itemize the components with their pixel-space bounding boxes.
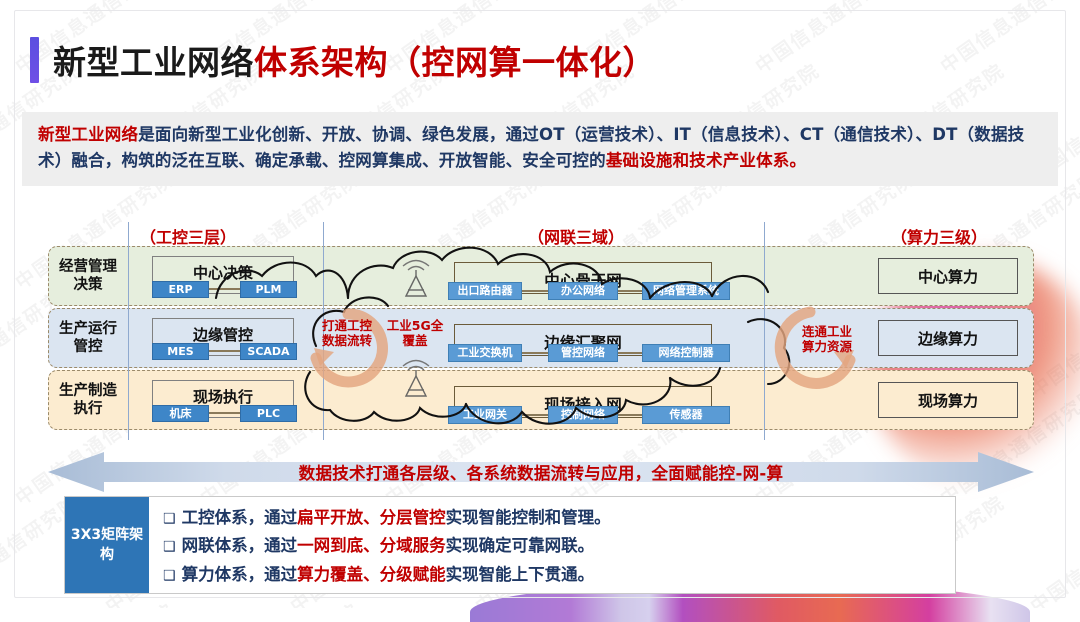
summary-item-1-p1: 工控体系，通过 (182, 508, 298, 527)
summary-item-2-p2: 实现确定可靠网联。 (446, 536, 595, 555)
title-text: 新型工业网络体系架构（控网算一体化） (53, 36, 656, 84)
ot-node-erp[interactable]: ERP (152, 281, 209, 298)
title-black-part: 新型工业网络 (53, 43, 254, 82)
page-title: 新型工业网络体系架构（控网算一体化） (30, 36, 656, 84)
summary-item-3: ❑算力体系，通过算力覆盖、分级赋能实现智能上下贯通。 (163, 561, 955, 589)
ot-node-plm[interactable]: PLM (240, 281, 297, 298)
summary-item-1-p2: 实现智能控制和管理。 (446, 508, 611, 527)
summary-list: ❑工控体系，通过扁平开放、分层管控实现智能控制和管理。 ❑网联体系，通过一网到底… (149, 497, 955, 593)
net-node-industrial-gateway[interactable]: 工业网关 (448, 406, 522, 424)
title-accent-bar (30, 37, 39, 83)
row-label-operation: 生产运行管控 (52, 308, 124, 368)
ot-node-plc[interactable]: PLC (240, 405, 297, 422)
architecture-diagram: （工控三层） （网联三域） （算力三级） 经营管理决策 生产运行管控 生产制造执… (48, 226, 1034, 448)
compute-box-field[interactable]: 现场算力 (878, 382, 1018, 418)
summary-badge: 3X3矩阵架构 (65, 497, 149, 593)
summary-item-2-red: 一网到底、分域服务 (297, 536, 446, 555)
annotation-right-swirl: 连通工业算力资源 (796, 324, 858, 355)
summary-item-1-red: 扁平开放、分层管控 (297, 508, 446, 527)
bullet-icon-1: ❑ (163, 511, 176, 527)
intro-seg1: 新型工业网络 (38, 125, 138, 144)
net-node-office-network[interactable]: 办公网络 (548, 282, 618, 300)
compute-box-edge[interactable]: 边缘算力 (878, 320, 1018, 356)
intro-paragraph: 新型工业网络是面向新型工业化创新、开放、协调、绿色发展，通过OT（运营技术）、I… (22, 112, 1058, 186)
net-node-industrial-switch[interactable]: 工业交换机 (448, 344, 522, 362)
net-node-field-control[interactable]: 控制网络 (548, 406, 618, 424)
column-caption-ot: （工控三层） (140, 224, 236, 248)
compute-box-center[interactable]: 中心算力 (878, 258, 1018, 294)
row-label-execution: 生产制造执行 (52, 370, 124, 430)
column-caption-compute: （算力三级） (891, 224, 987, 248)
bullet-icon-2: ❑ (163, 539, 176, 555)
banner-text: 数据技术打通各层级、各系统数据流转与应用，全面赋能控-网-算 (48, 452, 1034, 492)
summary-item-3-p1: 算力体系，通过 (182, 565, 298, 584)
summary-item-3-p2: 实现智能上下贯通。 (446, 565, 595, 584)
summary-item-2-p1: 网联体系，通过 (182, 536, 298, 555)
net-node-edge-router[interactable]: 出口路由器 (448, 282, 522, 300)
intro-seg2: 是面向新型工业化创新、开放、协调、绿色发展，通过OT（运营技术）、IT（信息技术… (38, 125, 1024, 170)
net-node-nms[interactable]: 网络管理系统 (642, 282, 730, 300)
ot-node-mes[interactable]: MES (152, 343, 209, 360)
row-label-management: 经营管理决策 (52, 246, 124, 306)
title-red-part: 体系架构（控网算一体化） (254, 43, 656, 82)
annotation-5g: 工业5G全覆盖 (386, 318, 444, 349)
summary-item-3-red: 算力覆盖、分级赋能 (297, 565, 446, 584)
ot-node-scada[interactable]: SCADA (240, 343, 297, 360)
bullet-icon-3: ❑ (163, 568, 176, 584)
summary-item-2: ❑网联体系，通过一网到底、分域服务实现确定可靠网联。 (163, 532, 955, 560)
annotation-left-swirl: 打通工控数据流转 (316, 318, 378, 349)
intro-seg3: 基础设施和技术产业体系。 (606, 151, 806, 170)
column-divider-3 (764, 222, 765, 440)
column-caption-network: （网联三域） (528, 224, 624, 248)
column-divider-1 (128, 222, 129, 440)
ot-node-machine-tool[interactable]: 机床 (152, 405, 209, 422)
net-node-sdn-controller[interactable]: 网络控制器 (642, 344, 730, 362)
ot-box-management-title: 中心决策 (153, 262, 293, 283)
three-by-three-summary: 3X3矩阵架构 ❑工控体系，通过扁平开放、分层管控实现智能控制和管理。 ❑网联体… (64, 496, 956, 594)
net-node-sensor[interactable]: 传感器 (642, 406, 730, 424)
net-node-control-network[interactable]: 管控网络 (548, 344, 618, 362)
summary-item-1: ❑工控体系，通过扁平开放、分层管控实现智能控制和管理。 (163, 504, 955, 532)
data-technology-banner: 数据技术打通各层级、各系统数据流转与应用，全面赋能控-网-算 (48, 452, 1034, 492)
ot-box-operation-title: 边缘管控 (153, 324, 293, 345)
ot-box-execution-title: 现场执行 (153, 386, 293, 407)
